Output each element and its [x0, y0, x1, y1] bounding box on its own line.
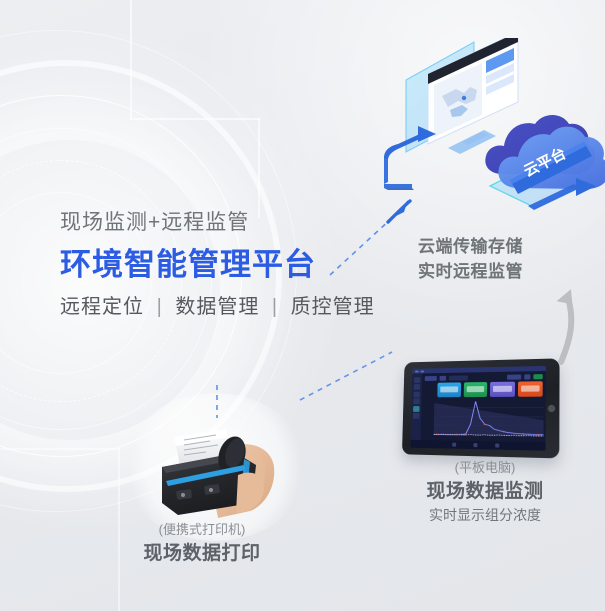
sidebar-item-6[interactable]	[413, 413, 420, 419]
concentration-chart	[434, 399, 544, 440]
tablet-screen[interactable]	[410, 366, 546, 451]
chart-svg	[434, 399, 544, 440]
tablet-home-button[interactable]	[548, 405, 555, 412]
headline-block: 现场监测+远程监管 环境智能管理平台 远程定位 | 数据管理 | 质控管理	[60, 212, 375, 317]
tag-remote-location: 远程定位	[60, 296, 144, 318]
tablet-paren-label: (平板电脑)	[395, 458, 575, 478]
grid-line-bottom	[0, 448, 120, 450]
stat-card-purple[interactable]	[490, 382, 515, 397]
sidebar-item-2[interactable]	[414, 384, 420, 390]
headline-eyebrow: 现场监测+远程监管	[60, 212, 375, 233]
stat-card-orange[interactable]	[517, 381, 542, 397]
dashboard-main	[421, 371, 546, 442]
toolbar-button-1[interactable]	[425, 376, 437, 381]
tag-data-management: 数据管理	[175, 296, 259, 318]
footer-indicator-3	[495, 443, 499, 447]
footer-indicator-1	[452, 443, 456, 447]
tablet-caption-title: 现场数据监测	[395, 478, 575, 506]
headline-tags: 远程定位 | 数据管理 | 质控管理	[60, 297, 375, 317]
tablet-device[interactable]	[398, 360, 558, 456]
toolbar-button-3[interactable]	[507, 374, 521, 379]
connector-to-tablet	[300, 352, 392, 400]
monitor-screen	[428, 38, 518, 154]
titlebar-dot	[415, 370, 419, 372]
sidebar-item-1[interactable]	[414, 377, 420, 383]
stat-card-blue[interactable]	[437, 382, 460, 397]
tag-separator-1: |	[151, 296, 169, 318]
grid-line-horizontal	[130, 118, 260, 120]
tablet-body	[402, 358, 560, 458]
footer-indicator-2	[473, 443, 477, 447]
printer-illustration	[140, 415, 290, 520]
printer-caption: (便携式打印机) 现场数据打印	[62, 520, 342, 567]
hand-fingers	[236, 473, 264, 513]
tablet-caption: (平板电脑) 现场数据监测 实时显示组分浓度	[395, 458, 575, 526]
tag-separator-2: |	[266, 296, 284, 318]
sidebar-item-active[interactable]	[413, 406, 420, 412]
grid-line-vertical-2	[258, 118, 260, 218]
dashboard-toolbar[interactable]	[425, 373, 543, 381]
dashboard-footer	[410, 440, 545, 451]
cloud-platform-illustration: 云平台	[378, 38, 605, 228]
page-title: 环境智能管理平台	[60, 249, 375, 280]
titlebar-dot	[420, 370, 424, 372]
cloud-caption-line-1: 云端传输存储	[418, 235, 523, 260]
gray-curved-arrow-shaft	[561, 298, 571, 362]
stat-card-green[interactable]	[463, 382, 487, 397]
printer-paren-label: (便携式打印机)	[62, 520, 342, 540]
dashboard-body	[411, 371, 546, 442]
tag-quality-control: 质控管理	[291, 296, 375, 318]
sidebar-item-4[interactable]	[413, 398, 420, 404]
printer-caption-title: 现场数据打印	[62, 540, 342, 568]
toolbar-button-4[interactable]	[524, 374, 530, 379]
cloud-caption-line-2: 实时远程监管	[418, 260, 523, 285]
tablet-caption-subtitle: 实时显示组分浓度	[395, 505, 575, 526]
grid-line-vertical	[130, 0, 132, 120]
toolbar-button-2[interactable]	[440, 375, 447, 380]
promo-banner: 现场监测+远程监管 环境智能管理平台 远程定位 | 数据管理 | 质控管理	[0, 0, 605, 611]
cloud-caption: 云端传输存储 实时远程监管	[418, 235, 523, 284]
gray-curved-arrow-head	[557, 286, 577, 306]
toolbar-start-button[interactable]	[533, 374, 542, 379]
stat-card-row	[424, 381, 542, 397]
sidebar-item-3[interactable]	[413, 391, 420, 397]
toolbar-field[interactable]	[449, 375, 468, 380]
